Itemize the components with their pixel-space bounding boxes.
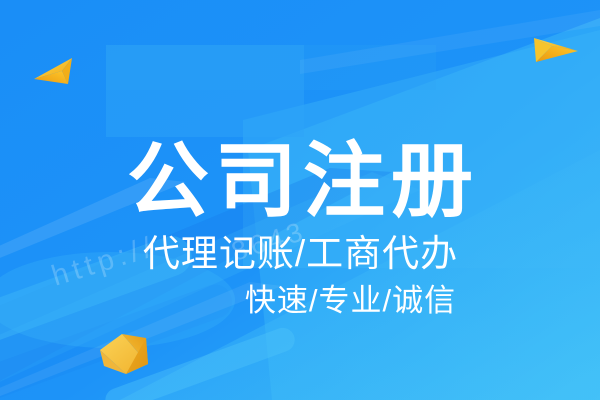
promo-poster: http:// 8643 公司注册 代理记账/工商代办 快速/专业/诚信 <box>0 0 600 400</box>
background-artwork <box>0 0 600 400</box>
